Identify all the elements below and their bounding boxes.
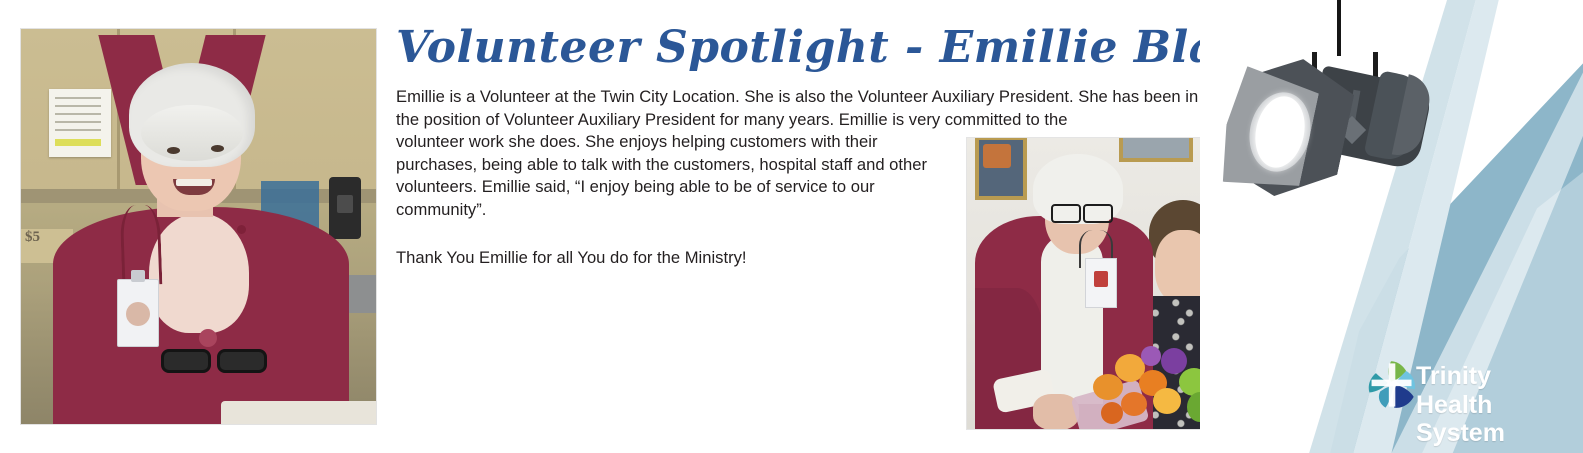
- flower-bouquet: [1091, 344, 1213, 429]
- wall-picture-frame: [975, 138, 1027, 200]
- subject-torso: [53, 207, 349, 424]
- subject-hair: [129, 63, 255, 167]
- volunteer-eyeglasses: [1051, 204, 1113, 220]
- slide-canvas: $5 Volunteer Spotlight - Emillie Blackwo…: [0, 0, 1583, 453]
- id-badge: [1085, 258, 1117, 308]
- wall-dispenser: [329, 177, 361, 239]
- counter-surface: [221, 401, 376, 424]
- spotlight-cable: [1337, 0, 1341, 56]
- subject-eye-right: [211, 145, 224, 152]
- posted-notice: [49, 89, 111, 157]
- hanging-eyeglasses: [161, 347, 269, 369]
- subject-eye-left: [167, 147, 180, 154]
- stage-spotlight-graphic: [1222, 54, 1432, 204]
- body-paragraph-2: volunteer work she does. She enjoys help…: [396, 131, 948, 221]
- logo-wordmark: Trinity Health System: [1416, 362, 1564, 448]
- emillie-portrait-photo: $5: [21, 29, 376, 424]
- logo-line-1: Trinity Health: [1416, 362, 1564, 419]
- id-badge: [117, 279, 159, 347]
- jacket-button: [199, 329, 217, 347]
- trinity-health-system-logo-mark: [1364, 358, 1418, 412]
- wall-picture-frame: [1119, 138, 1193, 162]
- logo-line-2: System: [1416, 419, 1564, 448]
- trinity-health-system-logo: Trinity Health System: [1364, 358, 1564, 434]
- emillie-with-flowers-photo: [967, 138, 1213, 429]
- body-paragraph-1: Emillie is a Volunteer at the Twin City …: [396, 86, 1214, 131]
- lapel-pin: [237, 225, 246, 234]
- thanks-line: Thank You Emillie for all You do for the…: [396, 248, 956, 268]
